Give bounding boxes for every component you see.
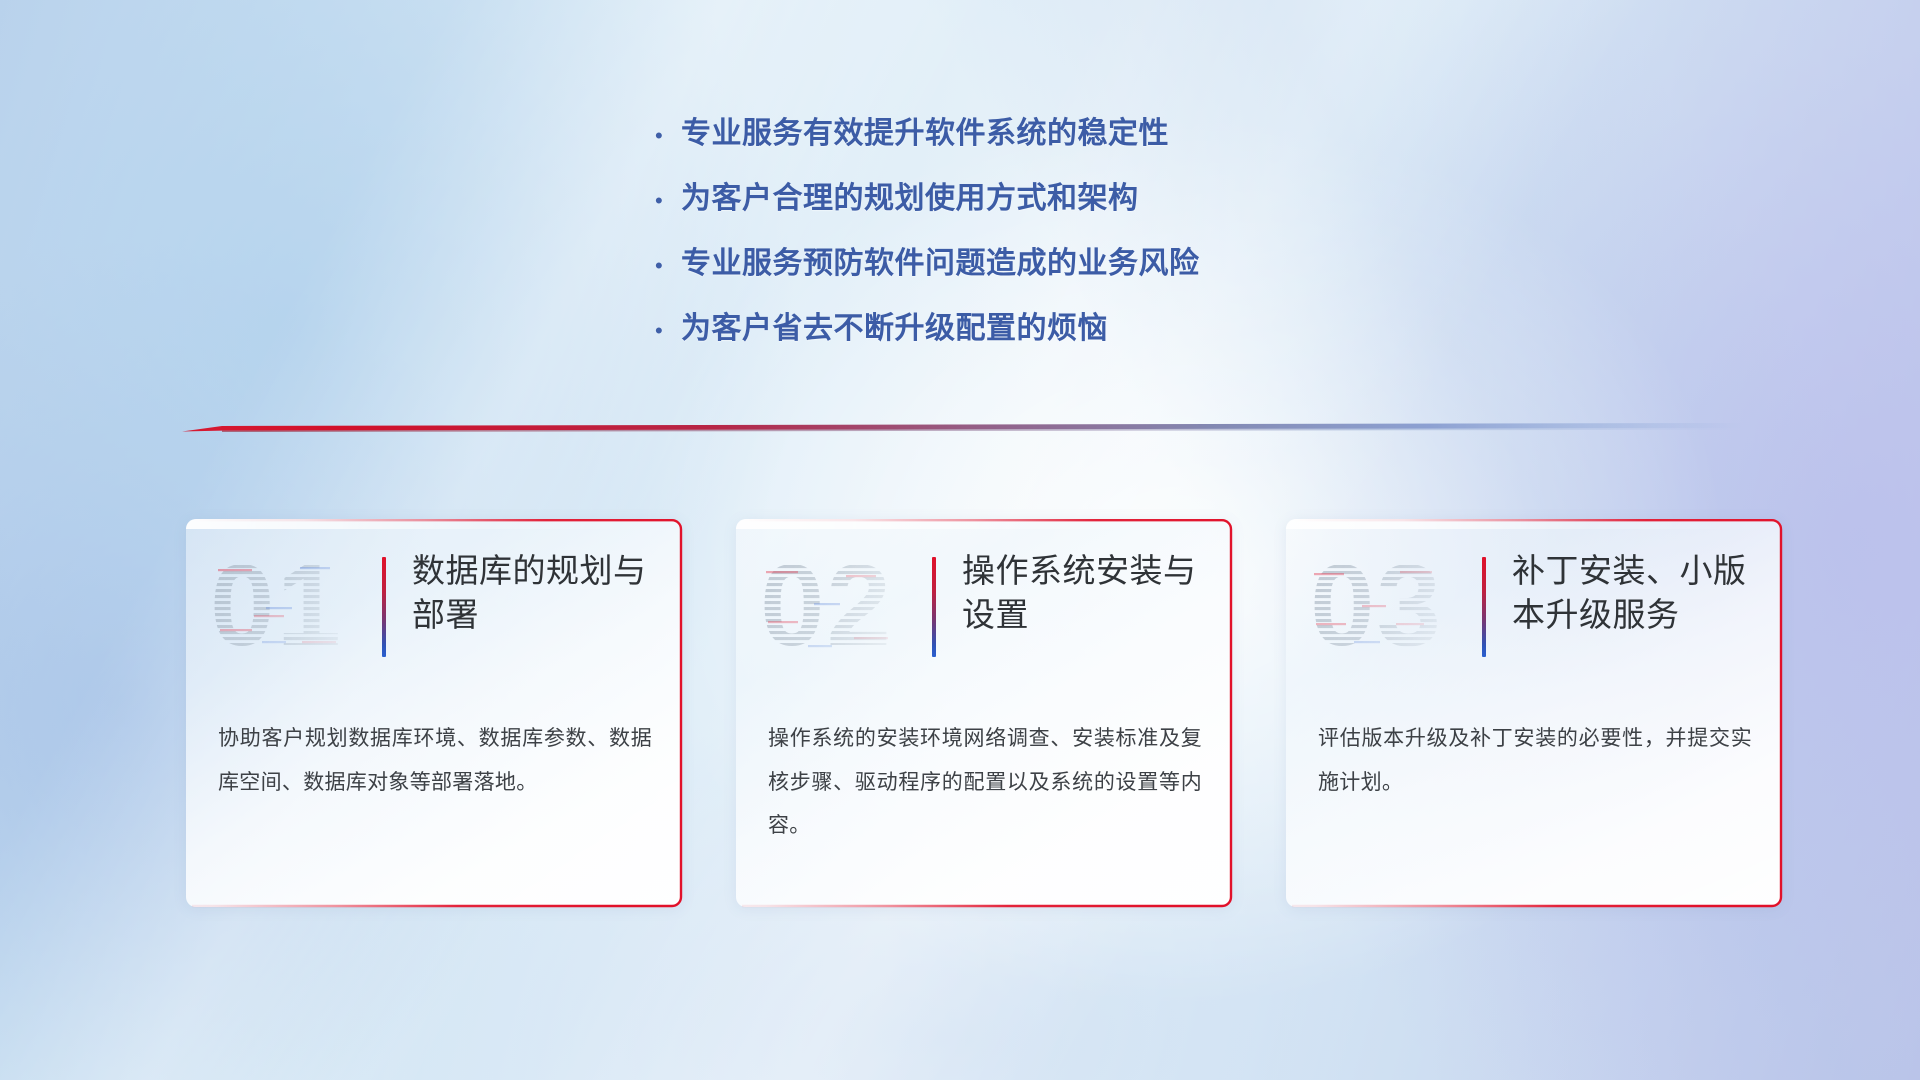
bullet-dot-icon: •	[655, 190, 681, 212]
svg-text:01: 01	[210, 541, 343, 669]
bullet-text: 为客户合理的规划使用方式和架构	[681, 173, 1139, 217]
card-description: 操作系统的安装环境网络调查、安装标准及复核步骤、驱动程序的配置以及系统的设置等内…	[768, 717, 1202, 848]
card-top-highlight	[736, 519, 1232, 529]
list-item: • 专业服务有效提升软件系统的稳定性	[655, 108, 1415, 173]
list-item: • 为客户省去不断升级配置的烦恼	[655, 303, 1415, 368]
card-top-highlight	[1286, 519, 1782, 529]
card-accent-rule	[1482, 557, 1486, 657]
card-title: 数据库的规划与部署	[412, 549, 664, 637]
card-accent-rule	[932, 557, 936, 657]
card-description: 评估版本升级及补丁安装的必要性，并提交实施计划。	[1318, 717, 1752, 804]
card-description: 协助客户规划数据库环境、数据库参数、数据库空间、数据库对象等部署落地。	[218, 717, 652, 804]
card-accent-rule	[382, 557, 386, 657]
card-number-watermark: 03	[1304, 541, 1464, 669]
list-item: • 专业服务预防软件问题造成的业务风险	[655, 238, 1415, 303]
slide-canvas: • 专业服务有效提升软件系统的稳定性 • 为客户合理的规划使用方式和架构 • 专…	[0, 0, 1920, 1080]
bullet-text: 为客户省去不断升级配置的烦恼	[681, 303, 1108, 347]
card-number-watermark: 01	[204, 541, 364, 669]
card-title: 补丁安装、小版本升级服务	[1512, 549, 1764, 637]
card-title: 操作系统安装与设置	[962, 549, 1214, 637]
service-card[interactable]: 01 数据库的规划与部署 协助客户规划数据库环境、数据库参数、数据库空间、数据库…	[186, 519, 682, 907]
service-card[interactable]: 02 操作系统安装与设置 操作系统的安装环境网络调查、安装标准及复核步骤、驱动程…	[736, 519, 1232, 907]
bullet-dot-icon: •	[655, 125, 681, 147]
service-card-row: 01 数据库的规划与部署 协助客户规划数据库环境、数据库参数、数据库空间、数据库…	[186, 519, 1786, 919]
section-divider	[182, 418, 1742, 440]
card-number-watermark: 02	[754, 541, 914, 669]
bullet-text: 专业服务有效提升软件系统的稳定性	[681, 108, 1169, 152]
bullet-text: 专业服务预防软件问题造成的业务风险	[681, 238, 1200, 282]
service-card[interactable]: 03 补丁安装、小版本升级服务 评估版本升级及补丁安装的必要性，并提交实施计划。	[1286, 519, 1782, 907]
list-item: • 为客户合理的规划使用方式和架构	[655, 173, 1415, 238]
bullet-dot-icon: •	[655, 320, 681, 342]
card-top-highlight	[186, 519, 682, 529]
bullet-dot-icon: •	[655, 255, 681, 277]
benefits-bullet-list: • 专业服务有效提升软件系统的稳定性 • 为客户合理的规划使用方式和架构 • 专…	[655, 108, 1415, 368]
